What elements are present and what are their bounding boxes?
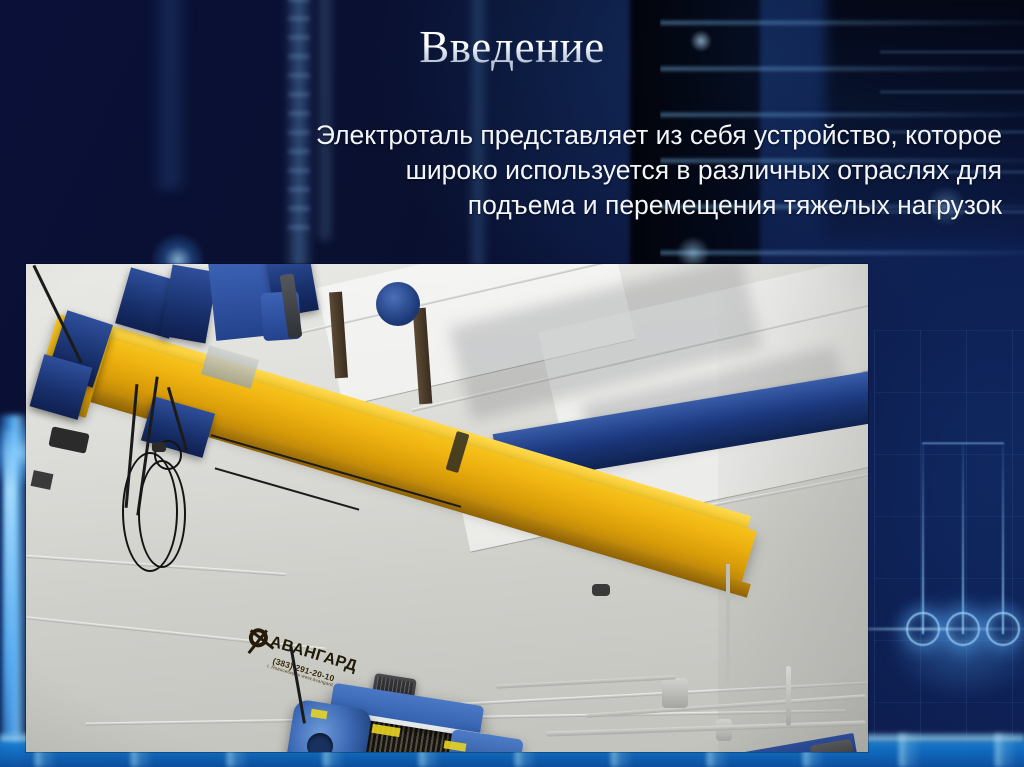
cable-loop-2: [138, 460, 186, 568]
presentation-slide: Введение Электроталь представляет из себ…: [0, 0, 1024, 767]
wall-conduit: [726, 564, 730, 684]
background-left-glow-core: [4, 430, 16, 760]
slide-body-text: Электроталь представляет из себя устройс…: [72, 118, 1002, 223]
ceiling-sensor: [592, 584, 610, 596]
cable-clamp: [152, 442, 166, 452]
pipe-fitting-box: [662, 678, 688, 708]
photo-wall-right: [718, 264, 868, 752]
body-line-2: широко используется в различных отраслях…: [72, 153, 1002, 188]
vertical-pipe: [786, 666, 791, 726]
trolley-wheel: [376, 282, 420, 326]
background-faint-grid: [874, 330, 1024, 760]
body-line-3: подъема и перемещения тяжелых нагрузок: [72, 188, 1002, 223]
crane-photo: АВАНГАРД (383) 291-20-10 г. Новосибирск …: [26, 264, 868, 752]
slide-title: Введение: [0, 22, 1024, 74]
body-line-1: Электроталь представляет из себя устройс…: [72, 118, 1002, 153]
